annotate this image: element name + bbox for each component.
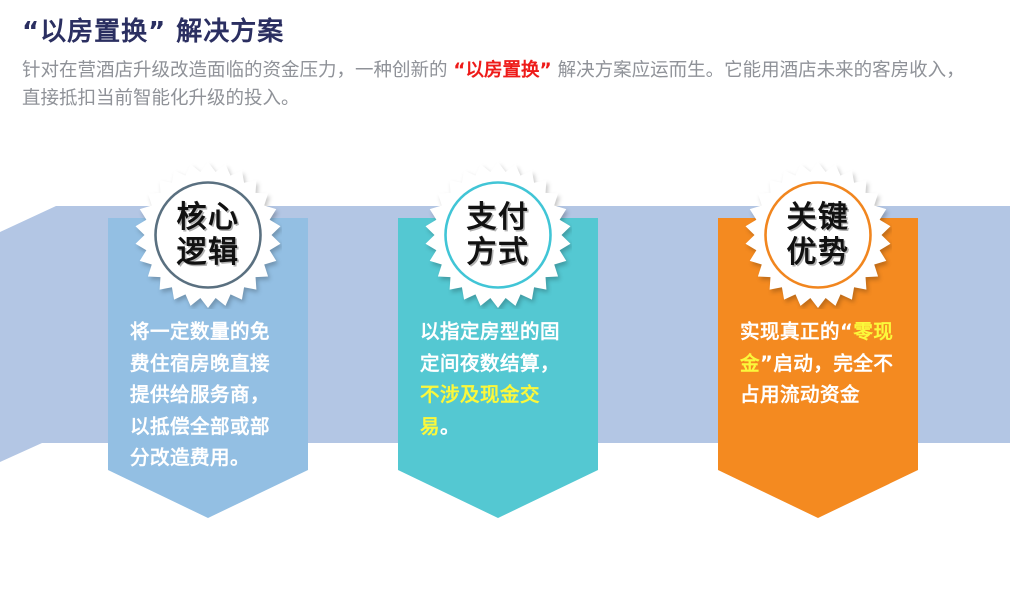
badge-key-advantage: 关键 优势: [744, 161, 892, 309]
slide-root: “以房置换” 解决方案 针对在营酒店升级改造面临的资金压力，一种创新的 “以房置…: [0, 0, 1010, 585]
badge-core-logic: 核心 逻辑: [134, 161, 282, 309]
badge-line1-0: 核心: [177, 200, 240, 235]
badge-label-payment-method: 支付 方式: [424, 161, 572, 309]
badge-line2-0: 逻辑: [177, 235, 240, 270]
badge-label-core-logic: 核心 逻辑: [134, 161, 282, 309]
badge-line2-2: 优势: [787, 235, 850, 270]
badge-line1-2: 关键: [787, 200, 850, 235]
badge-group: 核心 逻辑 支付 方式 关键 优势: [0, 0, 1010, 585]
badge-line1-1: 支付: [467, 200, 530, 235]
badge-line2-1: 方式: [467, 235, 530, 270]
badge-payment-method: 支付 方式: [424, 161, 572, 309]
badge-label-key-advantage: 关键 优势: [744, 161, 892, 309]
